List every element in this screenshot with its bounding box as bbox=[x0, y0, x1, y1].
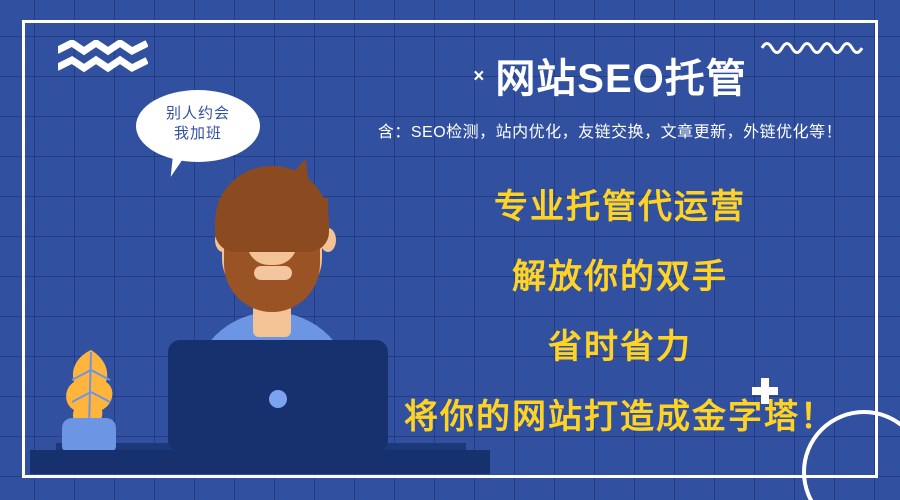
speech-bubble: 别人约会 我加班 bbox=[136, 90, 260, 162]
laptop-logo-dot bbox=[269, 390, 287, 408]
x-bullet-icon: × bbox=[473, 66, 485, 87]
page-title-text: 网站SEO托管 bbox=[495, 57, 746, 101]
wave-lines-icon bbox=[58, 40, 148, 74]
slogan-item: 省时省力 bbox=[370, 330, 870, 364]
slogan-list: 专业托管代运营 解放你的双手 省时省力 将你的网站打造成金字塔！ bbox=[370, 190, 870, 434]
slogan-item: 解放你的双手 bbox=[370, 260, 870, 294]
wavy-line-icon bbox=[760, 36, 870, 58]
speech-bubble-line-1: 别人约会 bbox=[136, 104, 260, 124]
slogan-item: 专业托管代运营 bbox=[370, 190, 870, 224]
plus-icon bbox=[752, 378, 778, 404]
plant-leaf-icon bbox=[58, 348, 124, 428]
seo-hosting-banner: 别人约会 我加班 ×网站SEO托管 含：SEO检测，站内优化，友链交换，文章更新… bbox=[0, 0, 900, 500]
plant-pot bbox=[62, 418, 116, 452]
desk bbox=[30, 450, 490, 474]
slogan-item: 将你的网站打造成金字塔！ bbox=[370, 400, 870, 434]
character-mouth bbox=[254, 266, 292, 280]
page-subtitle: 含：SEO检测，站内优化，友链交换，文章更新，外链优化等！ bbox=[330, 118, 890, 142]
speech-bubble-line-2: 我加班 bbox=[136, 124, 260, 144]
